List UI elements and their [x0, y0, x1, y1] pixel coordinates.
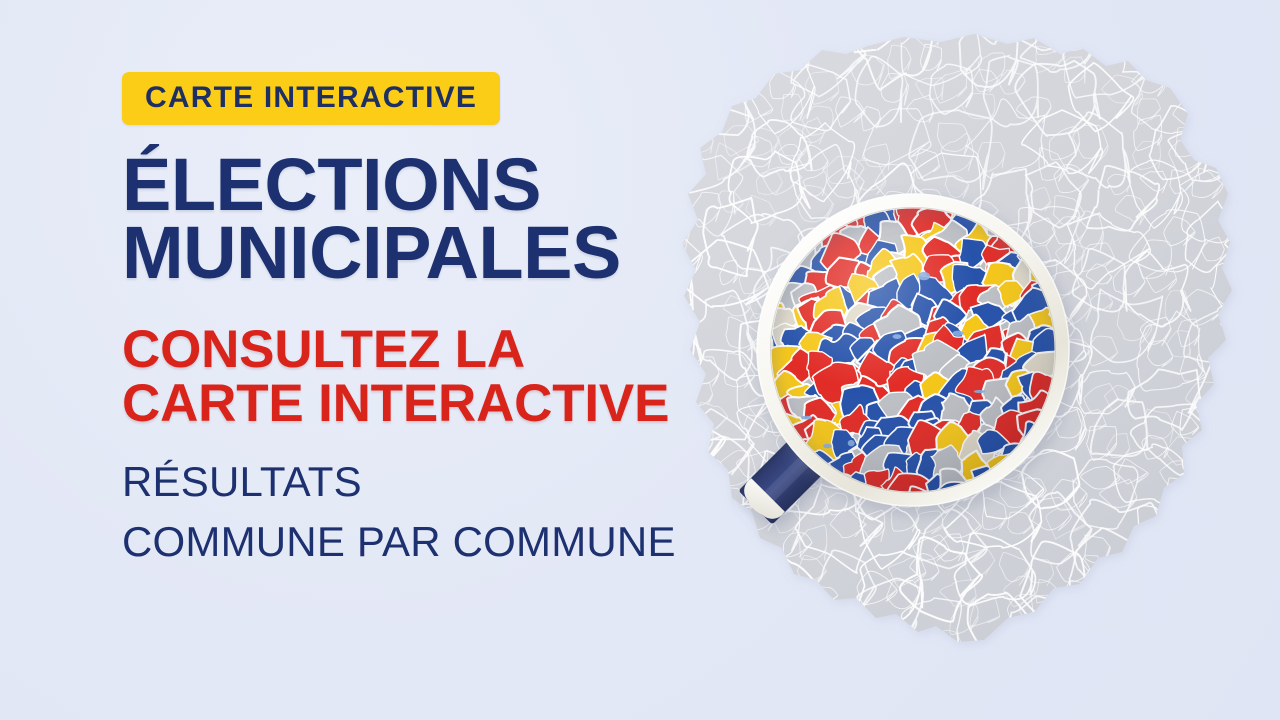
commune-polygon[interactable]: [1029, 534, 1054, 560]
commune-polygon[interactable]: [1073, 312, 1106, 348]
kicker-resultats: RÉSULTATS: [122, 461, 782, 503]
call-to-action-line-2: CARTE INTERACTIVE: [122, 377, 782, 431]
commune-polygon[interactable]: [800, 501, 837, 534]
commune-polygon[interactable]: [1086, 199, 1108, 224]
commune-polygon[interactable]: [1063, 507, 1099, 548]
commune-polygon[interactable]: [1059, 441, 1089, 472]
commune-polygon[interactable]: [1047, 486, 1084, 520]
commune-polygon[interactable]: [1060, 425, 1086, 453]
commune-polygon[interactable]: [842, 529, 872, 563]
commune-polygon[interactable]: [1088, 190, 1124, 219]
commune-polygon[interactable]: [960, 503, 1003, 546]
commune-polygon[interactable]: [1072, 223, 1103, 268]
commune-polygon[interactable]: [920, 520, 949, 554]
commune-polygon[interactable]: [1096, 466, 1125, 503]
commune-polygon[interactable]: [1035, 502, 1077, 543]
commune-polygon[interactable]: [1049, 534, 1086, 560]
commune-polygon[interactable]: [1094, 444, 1129, 478]
commune-polygon[interactable]: [1081, 254, 1134, 302]
commune-polygon[interactable]: [1071, 213, 1108, 240]
commune-polygon[interactable]: [1031, 448, 1058, 484]
commune-polygon[interactable]: [1099, 485, 1125, 512]
commune-polygon[interactable]: [1077, 166, 1113, 200]
commune-polygon[interactable]: [1089, 377, 1125, 409]
commune-polygon[interactable]: [1030, 493, 1064, 528]
call-to-action-line-1: CONSULTEZ LA: [122, 320, 525, 379]
kicker-commune-par-commune: COMMUNE PAR COMMUNE: [122, 521, 782, 563]
commune-polygon[interactable]: [1018, 511, 1048, 540]
commune-polygon[interactable]: [897, 505, 927, 533]
commune-polygon[interactable]: [963, 521, 1008, 565]
commune-polygon[interactable]: [1070, 254, 1100, 290]
commune-polygon[interactable]: [1015, 489, 1047, 517]
commune-polygon[interactable]: [926, 169, 958, 198]
commune-polygon[interactable]: [1064, 489, 1112, 539]
commune-polygon[interactable]: [1057, 260, 1093, 294]
commune-polygon[interactable]: [787, 506, 824, 545]
commune-polygon[interactable]: [982, 499, 1024, 539]
commune-polygon[interactable]: [1095, 201, 1128, 234]
commune-polygon[interactable]: [827, 518, 850, 548]
commune-polygon[interactable]: [1068, 354, 1100, 381]
commune-polygon[interactable]: [1048, 504, 1077, 533]
badge-carte-interactive[interactable]: CARTE INTERACTIVE: [122, 72, 500, 125]
commune-polygon[interactable]: [890, 520, 924, 556]
commune-polygon[interactable]: [1092, 328, 1132, 373]
magnifying-glass[interactable]: [756, 193, 1070, 507]
commune-polygon[interactable]: [810, 514, 840, 541]
commune-polygon[interactable]: [1083, 286, 1122, 315]
commune-polygon[interactable]: [1086, 354, 1125, 389]
commune-polygon[interactable]: [879, 514, 905, 550]
commune-polygon[interactable]: [1065, 518, 1098, 551]
commune-polygon[interactable]: [1094, 160, 1127, 196]
commune-polygon[interactable]: [1094, 218, 1132, 253]
commune-polygon[interactable]: [861, 515, 897, 555]
commune-polygon[interactable]: [1075, 338, 1100, 364]
commune-polygon[interactable]: [1068, 436, 1102, 468]
commune-polygon[interactable]: [1035, 439, 1070, 465]
commune-polygon[interactable]: [1046, 471, 1079, 499]
commune-polygon[interactable]: [1042, 466, 1081, 502]
commune-polygon[interactable]: [980, 496, 1009, 527]
commune-polygon[interactable]: [1094, 416, 1125, 453]
commune-polygon[interactable]: [901, 531, 929, 562]
commune-polygon[interactable]: [1036, 169, 1069, 202]
commune-polygon[interactable]: [814, 525, 848, 551]
commune-polygon[interactable]: [1017, 165, 1051, 197]
commune-polygon[interactable]: [984, 529, 1029, 571]
commune-polygon[interactable]: [1090, 316, 1125, 360]
poster-canvas: CARTE INTERACTIVE ÉLECTIONS MUNICIPALES …: [0, 0, 1280, 720]
commune-polygon[interactable]: [1039, 197, 1080, 237]
commune-polygon[interactable]: [861, 527, 897, 568]
commune-polygon[interactable]: [853, 169, 887, 191]
commune-polygon[interactable]: [1074, 373, 1118, 414]
commune-polygon[interactable]: [973, 172, 1018, 208]
page-title: ÉLECTIONS MUNICIPALES: [122, 151, 782, 287]
commune-polygon[interactable]: [960, 534, 989, 565]
commune-polygon[interactable]: [1098, 505, 1136, 549]
commune-polygon[interactable]: [1061, 273, 1105, 318]
commune-polygon[interactable]: [808, 520, 846, 563]
text-column: CARTE INTERACTIVE ÉLECTIONS MUNICIPALES …: [122, 72, 782, 563]
commune-polygon[interactable]: [783, 167, 813, 202]
commune-polygon[interactable]: [931, 512, 965, 540]
commune-polygon[interactable]: [829, 173, 854, 207]
commune-polygon[interactable]: [1082, 239, 1106, 267]
commune-polygon[interactable]: [1063, 228, 1093, 257]
commune-polygon[interactable]: [1075, 440, 1123, 486]
commune-polygon[interactable]: [1084, 394, 1129, 434]
commune-polygon[interactable]: [1075, 447, 1117, 483]
commune-polygon[interactable]: [1085, 234, 1130, 275]
commune-polygon[interactable]: [789, 527, 829, 571]
commune-polygon[interactable]: [1013, 192, 1043, 227]
commune-polygon[interactable]: [1064, 420, 1102, 457]
call-to-action[interactable]: CONSULTEZ LA CARTE INTERACTIVE: [122, 323, 782, 431]
commune-polygon[interactable]: [842, 505, 887, 557]
commune-polygon[interactable]: [1062, 241, 1088, 267]
commune-polygon[interactable]: [1038, 445, 1086, 478]
commune-polygon[interactable]: [1062, 391, 1101, 428]
commune-polygon[interactable]: [1006, 171, 1035, 199]
commune-polygon[interactable]: [1091, 305, 1126, 334]
commune-polygon[interactable]: [988, 182, 1012, 212]
commune-polygon[interactable]: [1021, 520, 1053, 548]
commune-polygon[interactable]: [1048, 173, 1092, 214]
commune-polygon[interactable]: [983, 505, 1011, 536]
commune-polygon[interactable]: [1021, 477, 1048, 504]
commune-polygon[interactable]: [1023, 198, 1062, 243]
commune-polygon[interactable]: [1045, 158, 1091, 197]
commune-polygon[interactable]: [1068, 472, 1102, 500]
commune-polygon[interactable]: [813, 182, 845, 216]
commune-polygon[interactable]: [934, 529, 977, 564]
commune-polygon[interactable]: [814, 161, 844, 197]
commune-polygon[interactable]: [912, 507, 944, 546]
commune-polygon[interactable]: [1093, 528, 1125, 552]
commune-polygon[interactable]: [1025, 196, 1057, 235]
page-title-line-2: MUNICIPALES: [122, 219, 782, 287]
commune-polygon[interactable]: [988, 179, 1028, 216]
commune-polygon[interactable]: [998, 494, 1023, 521]
commune-polygon[interactable]: [961, 171, 998, 204]
commune-polygon[interactable]: [1027, 184, 1069, 216]
commune-polygon[interactable]: [1069, 290, 1104, 328]
